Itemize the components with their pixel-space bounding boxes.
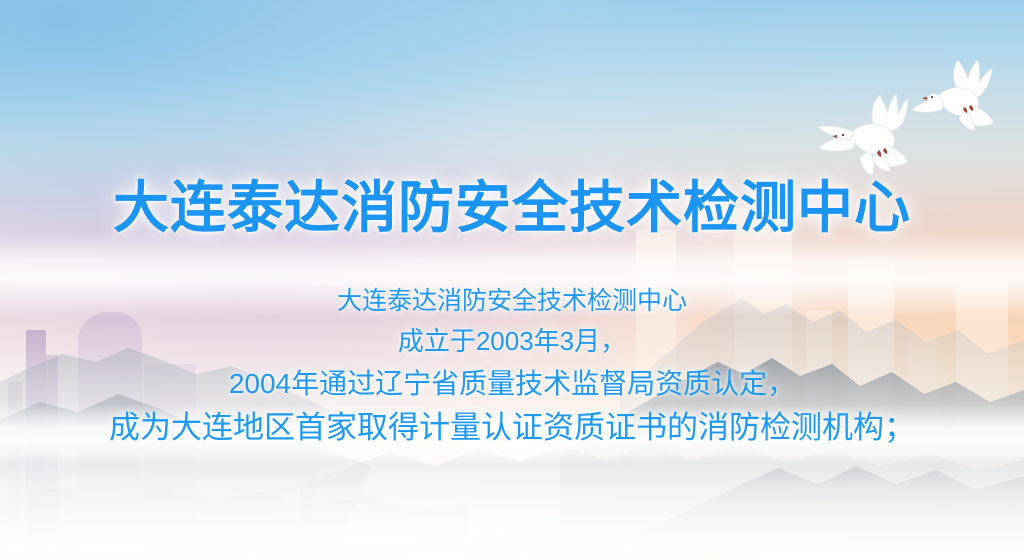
body-line: 2004年通过辽宁省质量技术监督局资质认定， (0, 362, 1024, 405)
body-line: 成为大连地区首家取得计量认证资质证书的消防检测机构； (0, 405, 1024, 451)
slide-body-text: 大连泰达消防安全技术检测中心 成立于2003年3月， 2004年通过辽宁省质量技… (0, 281, 1024, 451)
body-line: 大连泰达消防安全技术检测中心 (0, 281, 1024, 321)
dove-right-icon (908, 58, 1016, 134)
slide-title: 大连泰达消防安全技术检测中心 (0, 163, 1024, 244)
presentation-slide: 大连泰达消防安全技术检测中心 大连泰达消防安全技术检测中心 成立于2003年3月… (0, 0, 1024, 560)
dove-beak (922, 97, 927, 100)
dove-eye (842, 134, 844, 136)
dove-eye (931, 96, 933, 98)
body-line: 成立于2003年3月， (0, 321, 1024, 362)
